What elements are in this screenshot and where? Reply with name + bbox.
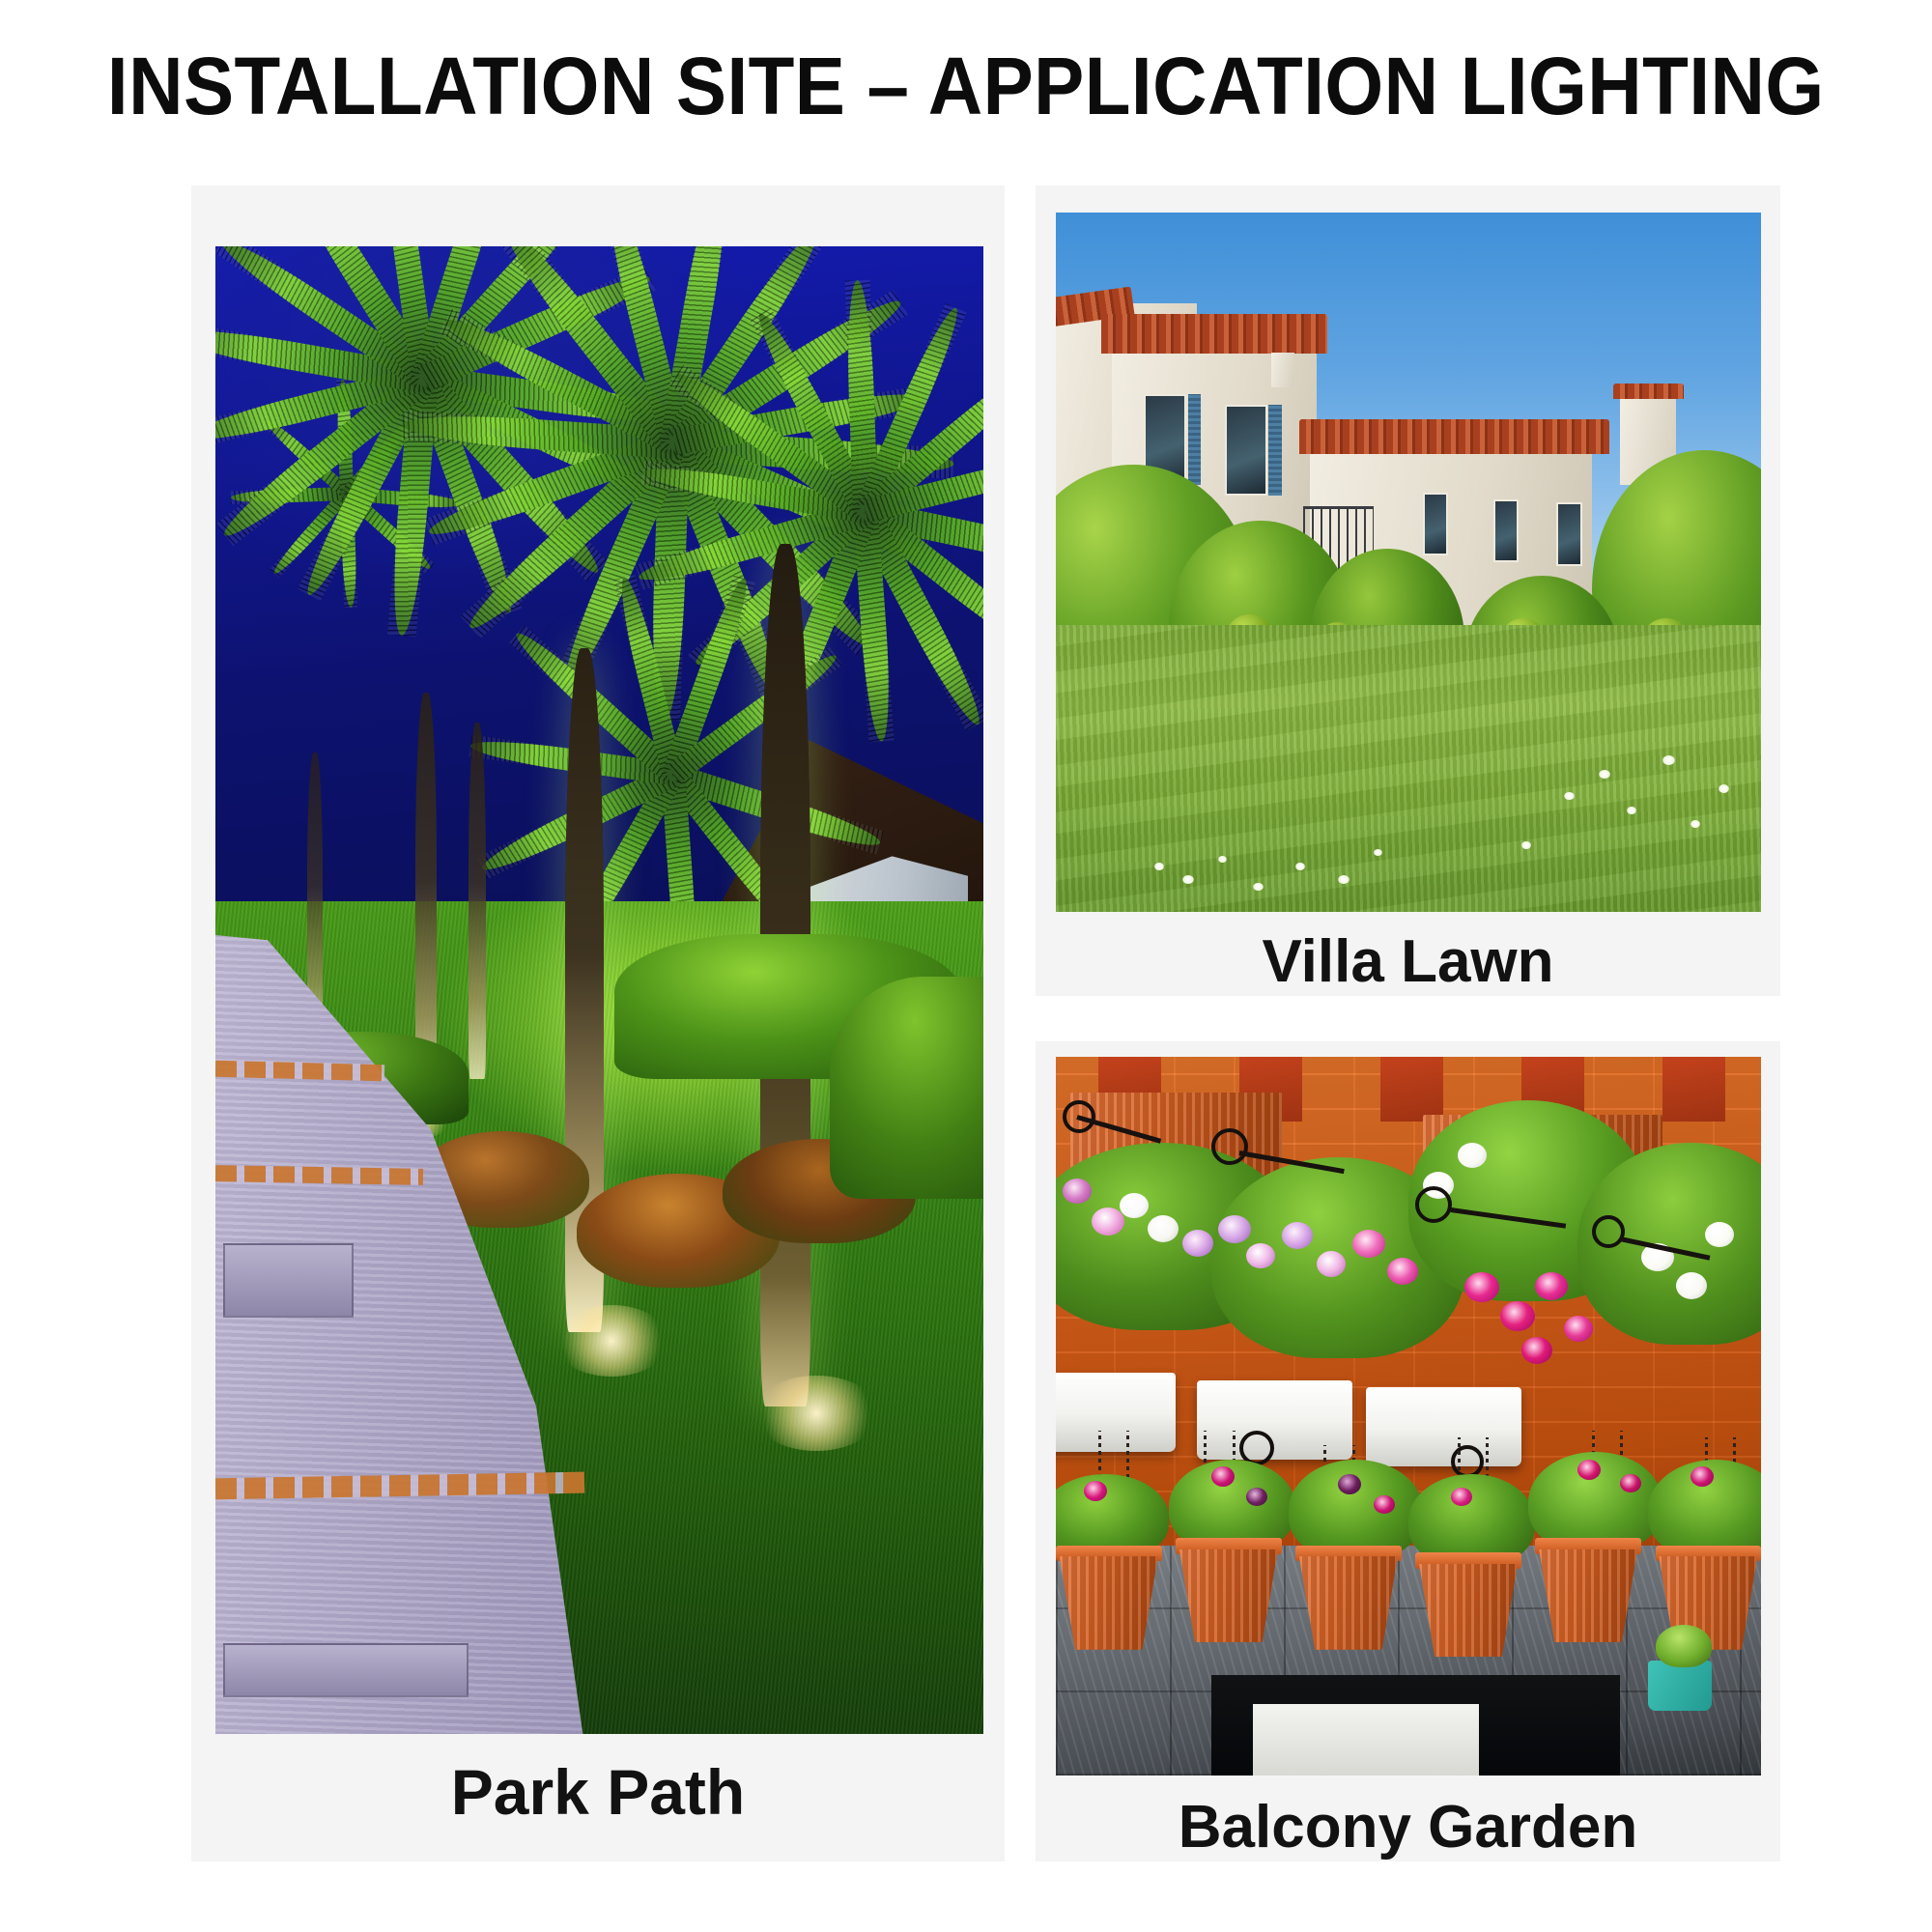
flower-bloom [1500,1301,1535,1331]
drain-grate [223,1243,354,1318]
caption-balcony-garden: Balcony Garden [1036,1793,1780,1861]
roof-tiles [1299,419,1609,454]
window [1493,499,1519,562]
daisy [1374,849,1382,856]
flower-bloom [1564,1316,1593,1342]
hanging-pot [1299,1556,1398,1650]
villa-lawn-scene [1056,213,1761,912]
daisy [1521,841,1531,849]
daisy [1627,807,1636,814]
flower-bloom [1182,1230,1213,1257]
park-path-scene [215,246,983,1734]
daisy [1662,755,1675,765]
window-box-planter [1197,1380,1352,1460]
daisy [1295,863,1305,870]
window [1556,502,1581,565]
uplight-icon [753,1376,879,1451]
palm-trunk [469,723,486,1080]
window-shutter [1188,394,1201,485]
hedge-row [830,977,983,1199]
window-shutter [1268,405,1281,496]
chimney [1271,353,1295,387]
flower-bloom [1690,1466,1714,1487]
wall-panel [1380,1057,1444,1122]
page-title-text: INSTALLATION SITE – APPLICATION LIGHTING [107,43,1825,129]
balcony-garden-scene [1056,1057,1761,1776]
small-plant [1656,1625,1712,1668]
iron-bracket-icon [1211,1128,1248,1165]
flower-bloom [1705,1222,1734,1247]
flower-bloom [1084,1481,1107,1501]
hanging-pot [1060,1556,1158,1650]
window [1423,493,1448,555]
daisy [1338,875,1350,884]
panel-park-path[interactable]: Park Path [191,185,1005,1861]
daisy [1154,863,1164,870]
chimney-cap [1613,384,1684,399]
watering-can [1648,1661,1712,1711]
roof-tiles [1101,314,1327,354]
flower-bloom [1620,1474,1641,1492]
hanging-pot [1539,1549,1637,1643]
window-box-planter [1056,1373,1176,1452]
flower-bloom [1317,1251,1346,1277]
daisy [1564,792,1575,800]
villa-lawn-photo [1056,213,1761,912]
flower-bloom [1521,1337,1552,1364]
page-title: INSTALLATION SITE – APPLICATION LIGHTING [0,43,1932,129]
window [1225,405,1267,496]
flower-bloom [1352,1230,1385,1258]
hanging-pot [1419,1564,1518,1658]
iron-bracket-icon [1451,1445,1484,1478]
flower-bloom [1282,1222,1313,1249]
wall-panel [1662,1057,1726,1122]
poster-root: INSTALLATION SITE – APPLICATION LIGHTING [0,0,1932,1932]
flower-bloom [1092,1207,1124,1236]
palm-canopy [446,604,900,923]
panel-villa-lawn[interactable]: Villa Lawn [1036,185,1780,996]
flower-bloom [1148,1215,1179,1242]
park-path-photo [215,246,983,1734]
caption-villa-lawn: Villa Lawn [1036,927,1780,996]
flower-bloom [1374,1495,1395,1514]
flower-bloom [1211,1466,1235,1487]
white-board [1253,1704,1479,1776]
flower-bloom [1577,1460,1601,1480]
window-box-planter [1366,1387,1521,1466]
uplight-icon [554,1305,669,1377]
iron-bracket-icon [1415,1186,1452,1223]
drain-grate [223,1643,469,1696]
hanging-pot [1179,1549,1278,1643]
iron-bracket-icon [1592,1215,1625,1248]
flower-bloom [1218,1215,1251,1243]
flower-bloom [1338,1474,1361,1494]
caption-park-path: Park Path [191,1755,1005,1829]
panel-balcony-garden[interactable]: Balcony Garden [1036,1041,1780,1861]
balcony-garden-photo [1056,1057,1761,1776]
flower-bloom [1120,1193,1149,1218]
